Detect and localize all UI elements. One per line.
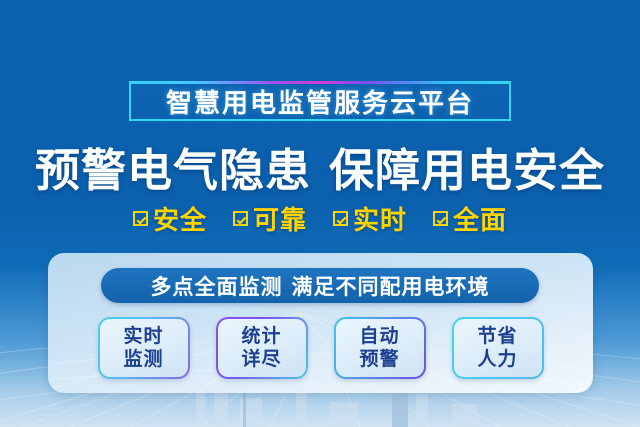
- check-item-reliable: 可靠: [233, 200, 307, 237]
- sub-banner-part-1: 多点全面监测: [151, 276, 283, 299]
- card-inner: 节省 人力: [454, 319, 542, 377]
- platform-title-text: 智慧用电监管服务云平台: [166, 83, 474, 120]
- check-item-safety: 安全: [133, 200, 207, 237]
- card-line-2: 预警: [359, 349, 399, 370]
- check-item-realtime: 实时: [333, 200, 407, 237]
- check-label: 安全: [153, 200, 207, 237]
- card-line-1: 统计: [241, 326, 281, 347]
- card-inner: 统计 详尽: [218, 319, 306, 377]
- checkbox-checked-icon: [433, 211, 448, 226]
- card-line-1: 节省: [477, 326, 517, 347]
- check-label: 可靠: [253, 200, 307, 237]
- poster-banner: 智慧用电监管服务云平台 预警电气隐患保障用电安全 安全 可靠 实时 全面: [0, 0, 640, 427]
- checkbox-checked-icon: [133, 211, 148, 226]
- card-inner: 实时 监测: [100, 319, 188, 377]
- headline-part-1: 预警电气隐患: [35, 145, 311, 196]
- card-line-1: 实时: [123, 326, 163, 347]
- feature-card-save-manpower[interactable]: 节省 人力: [452, 317, 544, 379]
- feature-card-list: 实时 监测 统计 详尽 自动 预警 节省 人力: [48, 313, 593, 383]
- card-line-2: 监测: [123, 349, 163, 370]
- headline: 预警电气隐患保障用电安全: [0, 134, 640, 199]
- feature-card-detailed-statistics[interactable]: 统计 详尽: [216, 317, 308, 379]
- checkbox-checked-icon: [233, 211, 248, 226]
- card-line-1: 自动: [359, 326, 399, 347]
- headline-part-2: 保障用电安全: [329, 145, 605, 196]
- platform-title-box: 智慧用电监管服务云平台: [129, 81, 511, 121]
- sub-banner-text: 多点全面监测满足不同配用电环境: [151, 271, 490, 301]
- card-inner: 自动 预警: [336, 319, 424, 377]
- check-item-comprehensive: 全面: [433, 200, 507, 237]
- sub-banner-pill: 多点全面监测满足不同配用电环境: [101, 268, 539, 303]
- feature-check-list: 安全 可靠 实时 全面: [0, 200, 640, 237]
- check-label: 全面: [453, 200, 507, 237]
- check-label: 实时: [353, 200, 407, 237]
- sub-banner-part-2: 满足不同配用电环境: [292, 276, 490, 299]
- card-line-2: 人力: [477, 349, 517, 370]
- feature-card-realtime-monitoring[interactable]: 实时 监测: [98, 317, 190, 379]
- card-line-2: 详尽: [241, 349, 281, 370]
- checkbox-checked-icon: [333, 211, 348, 226]
- feature-card-auto-alarm[interactable]: 自动 预警: [334, 317, 426, 379]
